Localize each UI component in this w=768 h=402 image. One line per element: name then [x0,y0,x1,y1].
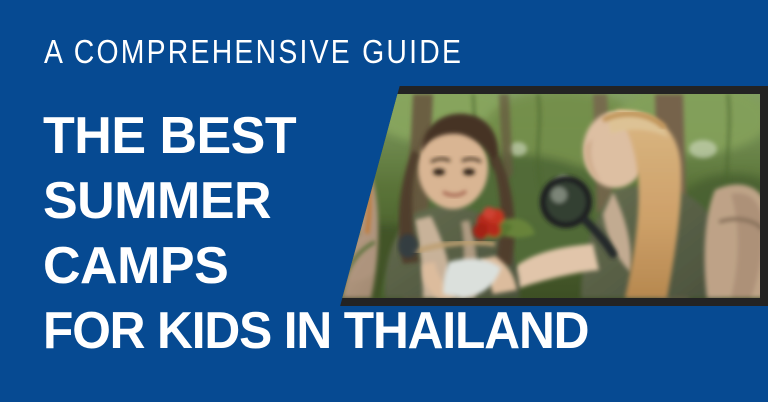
banner-headline: THE BEST SUMMER CAMPS FOR KIDS IN THAILA… [43,104,614,364]
banner-subtitle: A COMPREHENSIVE GUIDE [44,32,463,72]
headline-line-2: SUMMER [43,169,614,234]
headline-line-4: FOR KIDS IN THAILAND [43,299,588,364]
headline-line-1: THE BEST [43,104,614,169]
blog-banner: A COMPREHENSIVE GUIDE THE BEST SUMMER CA… [0,0,768,402]
headline-line-3: CAMPS [43,234,614,299]
